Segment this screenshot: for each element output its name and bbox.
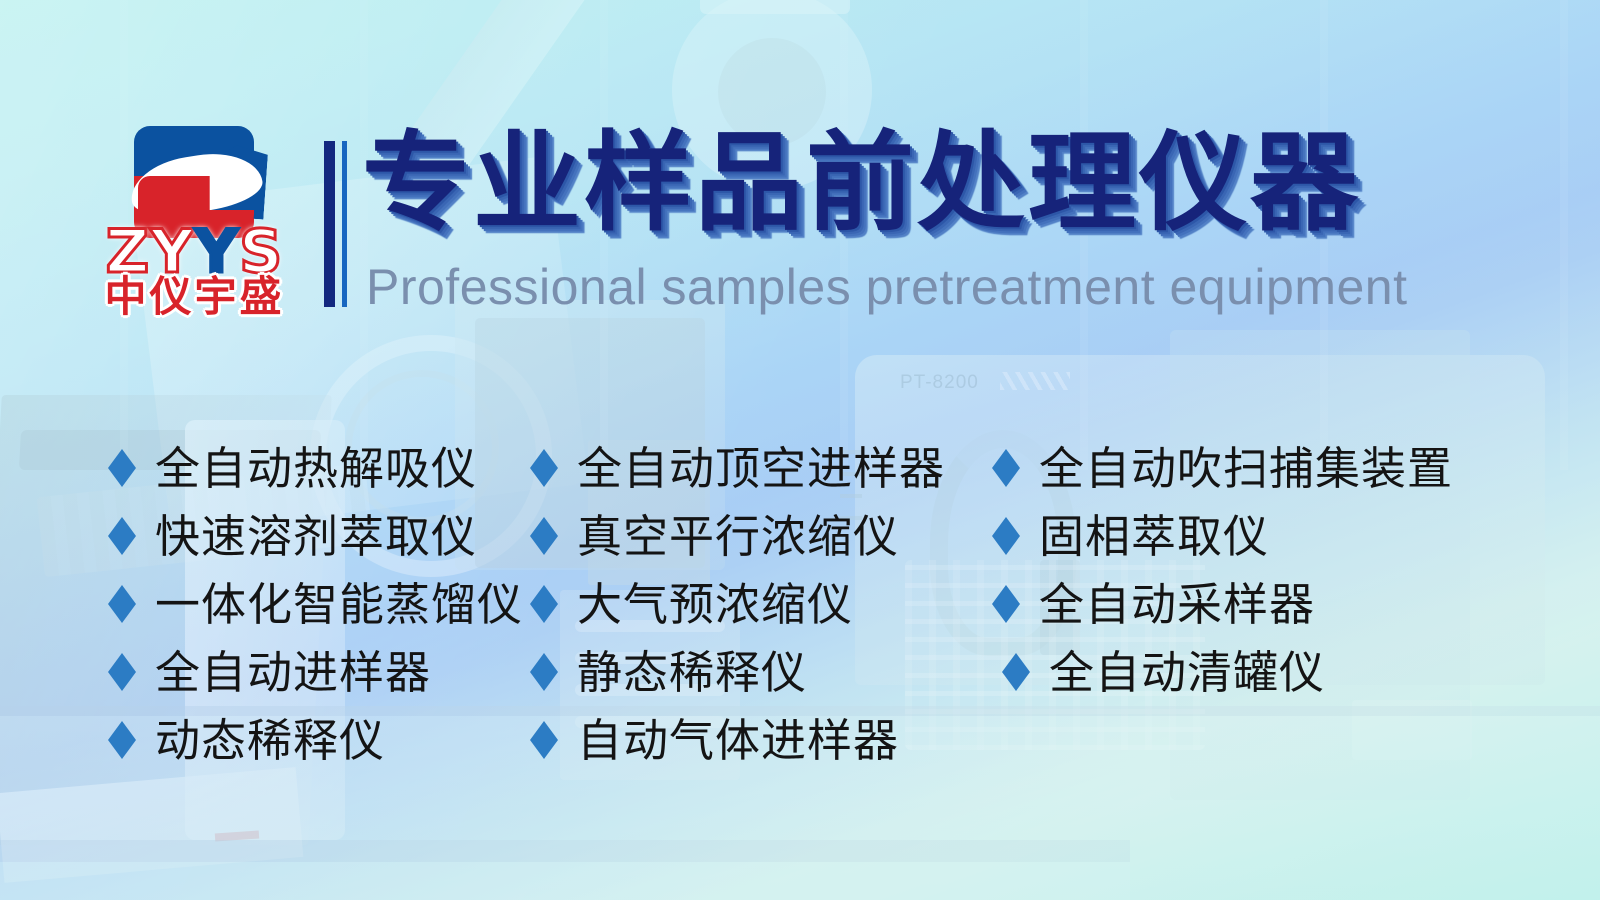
- diamond-bullet-icon: [108, 517, 136, 555]
- diamond-bullet-icon: [530, 653, 558, 691]
- list-item[interactable]: 全自动清罐仪: [992, 638, 1453, 706]
- product-column-1: 全自动热解吸仪 快速溶剂萃取仪 一体化智能蒸馏仪 全自动进样器 动态稀释仪: [108, 434, 523, 774]
- diamond-bullet-icon: [992, 449, 1020, 487]
- list-item[interactable]: 动态稀释仪: [108, 706, 523, 774]
- list-item[interactable]: 真空平行浓缩仪: [530, 502, 945, 570]
- diamond-bullet-icon: [108, 653, 136, 691]
- product-label: 快速溶剂萃取仪: [155, 514, 477, 559]
- diamond-bullet-icon: [530, 517, 558, 555]
- product-label: 全自动清罐仪: [1049, 650, 1325, 695]
- product-label: 真空平行浓缩仪: [577, 514, 899, 559]
- diamond-bullet-icon: [108, 585, 136, 623]
- list-item[interactable]: 全自动热解吸仪: [108, 434, 523, 502]
- product-label: 固相萃取仪: [1039, 514, 1269, 559]
- product-label: 动态稀释仪: [155, 718, 385, 763]
- product-list: 全自动热解吸仪 快速溶剂萃取仪 一体化智能蒸馏仪 全自动进样器 动态稀释仪: [0, 0, 1600, 900]
- diamond-bullet-icon: [992, 585, 1020, 623]
- product-label: 全自动吹扫捕集装置: [1039, 446, 1453, 491]
- product-label: 一体化智能蒸馏仪: [155, 582, 523, 627]
- product-label: 全自动进样器: [155, 650, 431, 695]
- product-label: 静态稀释仪: [577, 650, 807, 695]
- list-item[interactable]: 全自动进样器: [108, 638, 523, 706]
- product-column-2: 全自动顶空进样器 真空平行浓缩仪 大气预浓缩仪 静态稀释仪 自动气体进样器: [530, 434, 945, 774]
- diamond-bullet-icon: [108, 721, 136, 759]
- product-label: 全自动热解吸仪: [155, 446, 477, 491]
- diamond-bullet-icon: [108, 449, 136, 487]
- product-label: 大气预浓缩仪: [577, 582, 853, 627]
- diamond-bullet-icon: [1002, 653, 1030, 691]
- promotional-banner: PT-8200 ZYYS 中仪宇盛: [0, 0, 1600, 900]
- diamond-bullet-icon: [530, 585, 558, 623]
- product-column-3: 全自动吹扫捕集装置 固相萃取仪 全自动采样器 全自动清罐仪: [992, 434, 1453, 706]
- list-item[interactable]: 一体化智能蒸馏仪: [108, 570, 523, 638]
- list-item[interactable]: 全自动采样器: [992, 570, 1453, 638]
- list-item[interactable]: 全自动顶空进样器: [530, 434, 945, 502]
- product-label: 全自动顶空进样器: [577, 446, 945, 491]
- list-item[interactable]: 快速溶剂萃取仪: [108, 502, 523, 570]
- list-item[interactable]: 静态稀释仪: [530, 638, 945, 706]
- diamond-bullet-icon: [992, 517, 1020, 555]
- list-item[interactable]: 全自动吹扫捕集装置: [992, 434, 1453, 502]
- product-label: 自动气体进样器: [577, 718, 899, 763]
- list-item[interactable]: 自动气体进样器: [530, 706, 945, 774]
- list-item[interactable]: 固相萃取仪: [992, 502, 1453, 570]
- diamond-bullet-icon: [530, 721, 558, 759]
- product-label: 全自动采样器: [1039, 582, 1315, 627]
- list-item[interactable]: 大气预浓缩仪: [530, 570, 945, 638]
- diamond-bullet-icon: [530, 449, 558, 487]
